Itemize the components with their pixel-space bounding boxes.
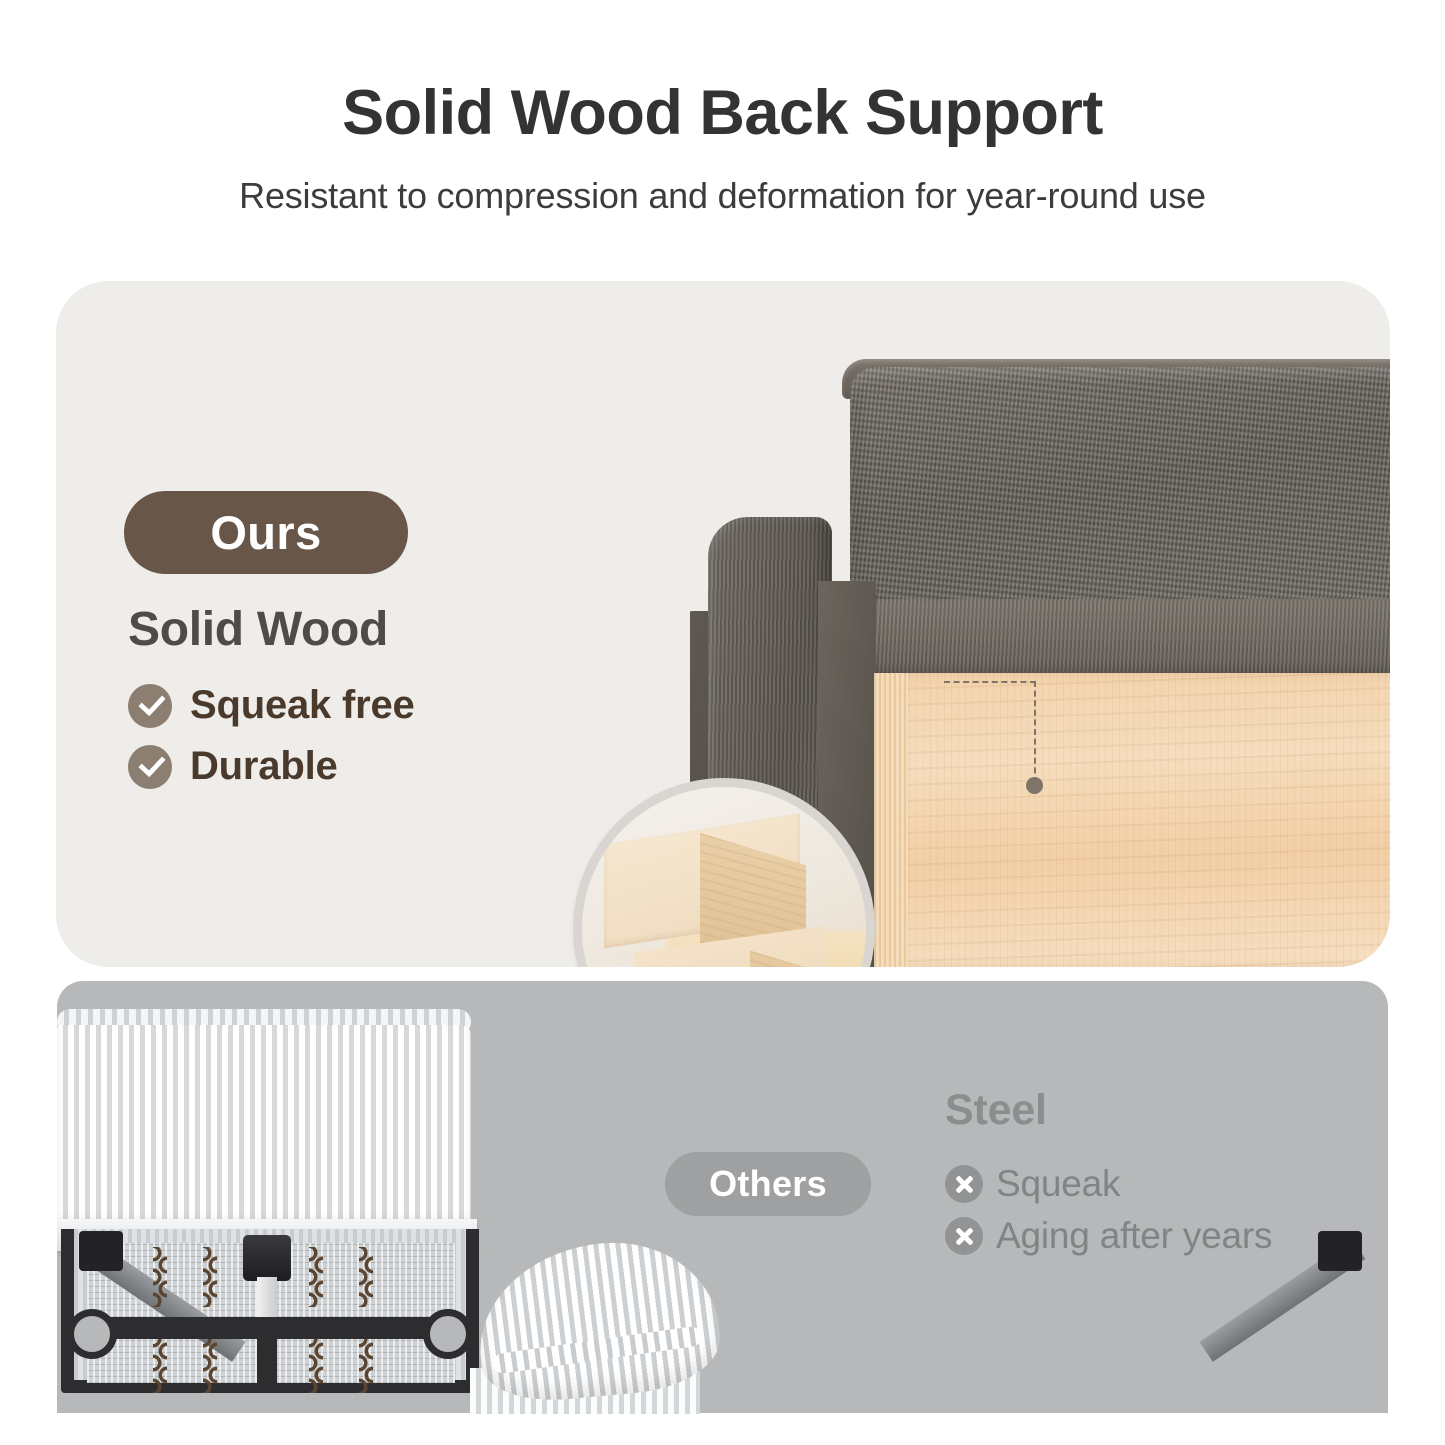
- ours-feature-item: Squeak free: [128, 683, 415, 728]
- callout-line-vertical: [1034, 681, 1036, 783]
- recliner-motor: [243, 1235, 291, 1281]
- others-feature-label: Squeak: [996, 1163, 1120, 1205]
- zigzag-spring: [203, 1247, 217, 1307]
- zigzag-spring: [153, 1333, 167, 1393]
- zigzag-spring: [309, 1333, 323, 1393]
- ours-feature-item: Durable: [128, 744, 338, 789]
- zigzag-spring: [203, 1333, 217, 1393]
- zigzag-spring: [153, 1247, 167, 1307]
- others-feature-label: Aging after years: [996, 1215, 1272, 1257]
- check-circle-icon: [128, 745, 172, 789]
- others-feature-item: Squeak: [945, 1163, 1120, 1205]
- ours-feature-label: Squeak free: [190, 683, 415, 728]
- page-title: Solid Wood Back Support: [0, 0, 1445, 145]
- page-header: Solid Wood Back Support Resistant to com…: [0, 0, 1445, 217]
- wood-panel-grain-edge: [874, 673, 908, 967]
- ours-badge-label: Ours: [210, 505, 321, 560]
- solid-wood-back-panel: [874, 673, 1390, 967]
- x-circle-icon: [945, 1217, 983, 1255]
- others-badge: Others: [665, 1152, 871, 1216]
- steel-hinge-right: [1318, 1231, 1362, 1271]
- corduroy-sofa-back: [57, 1025, 471, 1225]
- sofa-seat-rail: [810, 599, 1390, 683]
- check-circle-icon: [128, 684, 172, 728]
- zigzag-spring: [359, 1333, 373, 1393]
- x-circle-icon: [945, 1165, 983, 1203]
- others-badge-label: Others: [709, 1163, 827, 1205]
- callout-dot-marker: [1026, 777, 1043, 794]
- ours-badge: Ours: [124, 491, 408, 574]
- sofa-backrest-cushion: [850, 367, 1390, 629]
- page-subtitle: Resistant to compression and deformation…: [0, 145, 1445, 217]
- zigzag-spring: [309, 1247, 323, 1307]
- ours-material-label: Solid Wood: [128, 602, 388, 657]
- others-feature-item: Aging after years: [945, 1215, 1272, 1257]
- steel-hinge-left: [79, 1231, 123, 1271]
- others-material-label: Steel: [945, 1086, 1047, 1135]
- zigzag-spring: [359, 1247, 373, 1307]
- callout-line-horizontal: [944, 681, 1036, 683]
- ours-feature-label: Durable: [190, 744, 338, 789]
- steel-vertical-bar: [257, 1317, 277, 1393]
